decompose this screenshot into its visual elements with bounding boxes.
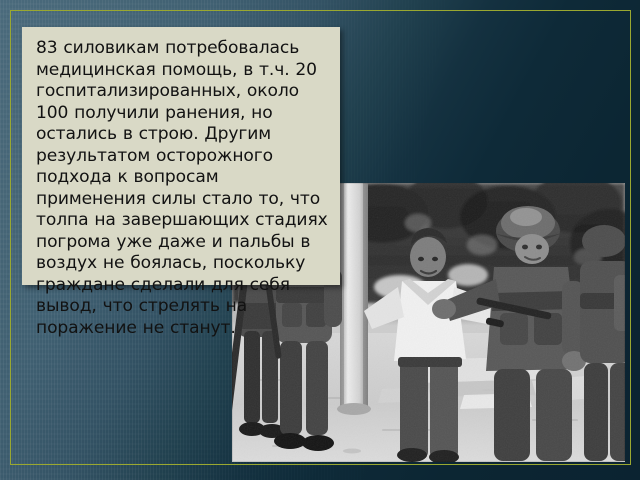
caption-textbox: 83 силовикам потребовалась медицинская п… <box>22 27 340 285</box>
slide-root: 83 силовикам потребовалась медицинская п… <box>0 0 640 480</box>
caption-body-text: 83 силовикам потребовалась медицинская п… <box>36 38 328 339</box>
photo-utility-pole <box>337 183 371 415</box>
